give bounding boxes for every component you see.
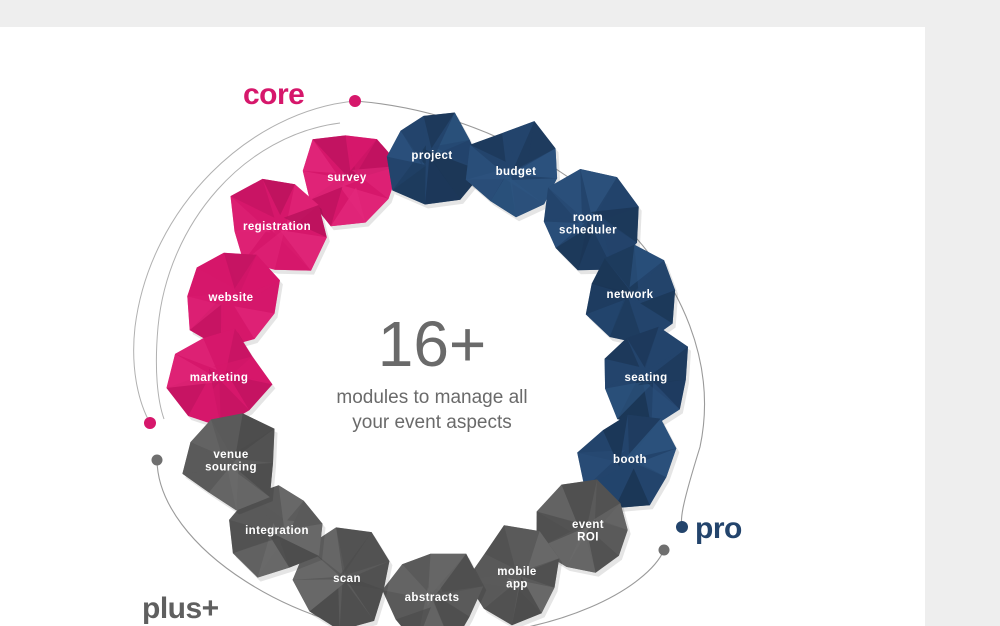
module-label: budget bbox=[496, 166, 537, 178]
module-label: project bbox=[411, 150, 452, 162]
module-label: booth bbox=[613, 454, 647, 466]
module-label: sourcing bbox=[205, 461, 257, 473]
module-label: scan bbox=[333, 573, 361, 585]
pro-label: pro bbox=[695, 512, 742, 545]
module-label: registration bbox=[243, 221, 311, 233]
module-label: venue bbox=[213, 449, 248, 461]
plus-dot-end[interactable] bbox=[659, 545, 670, 556]
pro-dot[interactable] bbox=[676, 521, 688, 533]
core-dot-end[interactable] bbox=[144, 417, 156, 429]
module-label: marketing bbox=[190, 372, 249, 384]
module-label: network bbox=[607, 289, 654, 301]
module-label: mobile bbox=[497, 566, 536, 578]
module-label: app bbox=[506, 578, 528, 590]
modules-circle-infographic: surveyregistrationwebsitemarketingprojec… bbox=[0, 27, 925, 626]
module-label: event bbox=[572, 519, 604, 531]
plus-label: plus+ bbox=[142, 592, 219, 625]
module-label: seating bbox=[624, 372, 667, 384]
module-label: scheduler bbox=[559, 224, 617, 236]
center-subline-2: your event aspects bbox=[352, 412, 511, 433]
plus-dot-start[interactable] bbox=[152, 455, 163, 466]
center-text-block: 16+ modules to manage all your event asp… bbox=[336, 308, 527, 433]
module-label: integration bbox=[245, 525, 309, 537]
module-venue-sourcing[interactable]: venuesourcing bbox=[182, 413, 277, 514]
infographic-svg: surveyregistrationwebsitemarketingprojec… bbox=[0, 27, 925, 626]
module-label: survey bbox=[327, 172, 367, 184]
module-label: ROI bbox=[577, 531, 599, 543]
module-label: website bbox=[208, 292, 254, 304]
module-seating[interactable]: seating bbox=[605, 327, 691, 432]
core-label: core bbox=[243, 78, 304, 111]
center-subline-1: modules to manage all bbox=[336, 387, 527, 408]
module-marketing[interactable]: marketing bbox=[167, 329, 276, 431]
module-abstracts[interactable]: abstracts bbox=[382, 554, 486, 626]
module-label: room bbox=[573, 212, 603, 224]
core-dot-start[interactable] bbox=[349, 95, 361, 107]
screenshot-root: surveyregistrationwebsitemarketingprojec… bbox=[0, 0, 1000, 626]
center-headline: 16+ bbox=[378, 308, 487, 380]
module-label: abstracts bbox=[405, 592, 460, 604]
content-panel: surveyregistrationwebsitemarketingprojec… bbox=[0, 27, 925, 626]
